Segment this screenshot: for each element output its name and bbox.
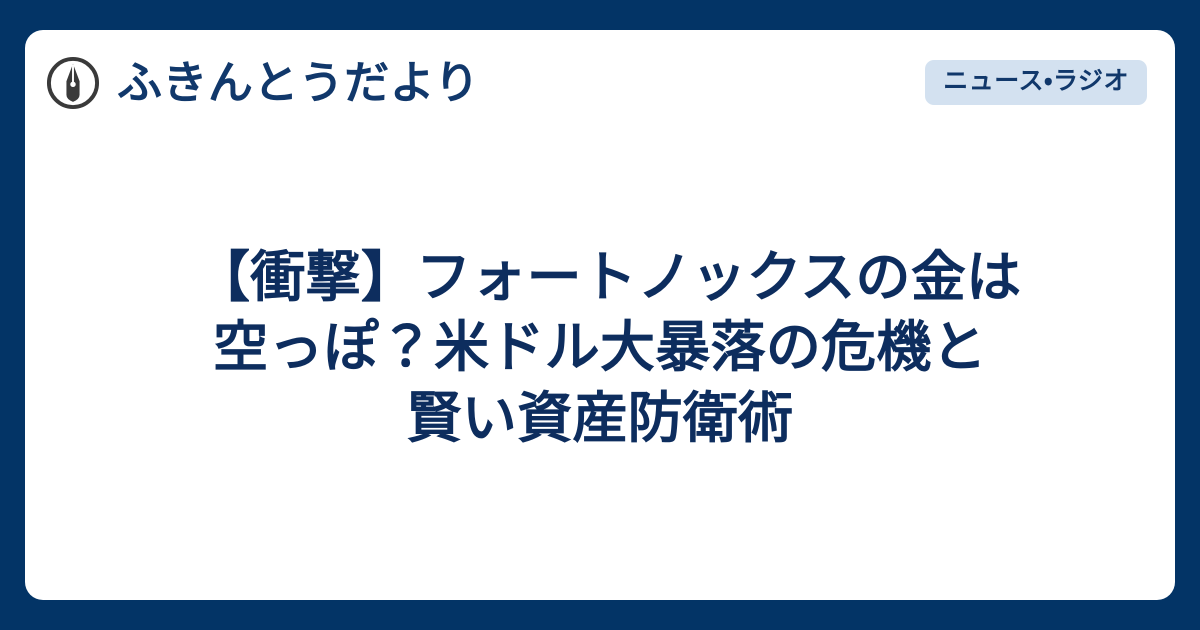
ogp-card-frame: ふきんとうだより ニュース・ラジオ 【衝撃】フォートノックスの金は 空っぽ？米ド…	[0, 0, 1200, 630]
pen-nib-icon	[45, 55, 101, 111]
category-badge[interactable]: ニュース・ラジオ	[925, 60, 1147, 105]
content-card: ふきんとうだより ニュース・ラジオ 【衝撃】フォートノックスの金は 空っぽ？米ド…	[25, 30, 1175, 600]
site-name: ふきんとうだより	[117, 60, 480, 105]
site-branding[interactable]: ふきんとうだより	[45, 55, 925, 111]
article-title-area: 【衝撃】フォートノックスの金は 空っぽ？米ドル大暴落の危機と 賢い資産防衛術	[25, 135, 1175, 600]
article-title: 【衝撃】フォートノックスの金は 空っぽ？米ドル大暴落の危機と 賢い資産防衛術	[195, 242, 1005, 453]
card-header: ふきんとうだより ニュース・ラジオ	[25, 30, 1175, 135]
title-line-1: 【衝撃】フォートノックスの金は	[195, 242, 1005, 312]
title-line-3: 賢い資産防衛術	[195, 383, 1005, 453]
title-line-2: 空っぽ？米ドル大暴落の危機と	[195, 312, 1005, 382]
